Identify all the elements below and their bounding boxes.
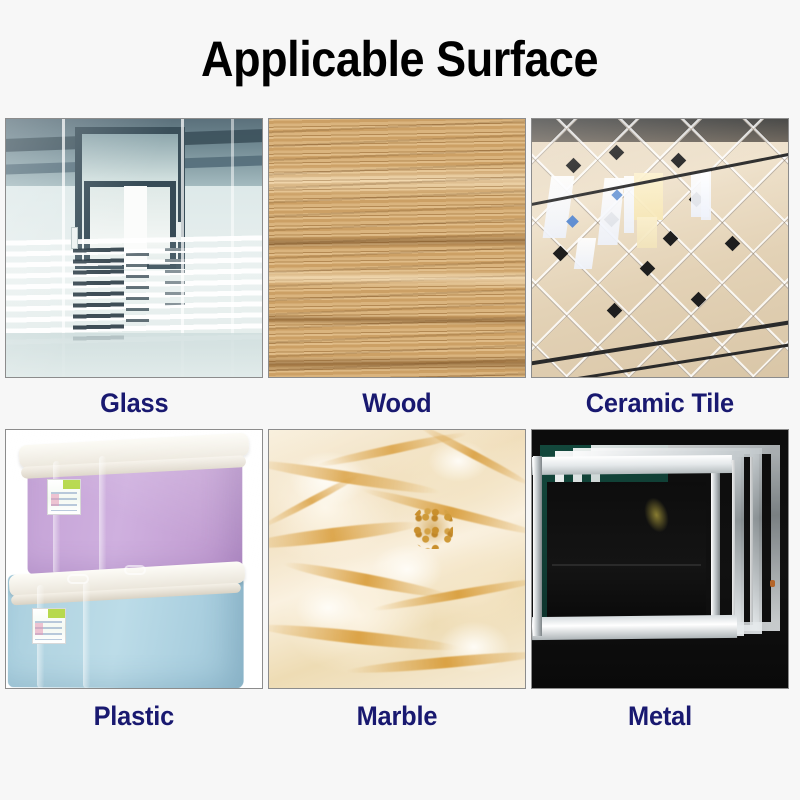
surface-label-marble: Marble (357, 689, 438, 742)
surface-label-wood: Wood (362, 378, 431, 429)
surface-item-wood[interactable]: Wood (268, 118, 526, 429)
plastic-storage-bins-photo (6, 430, 262, 688)
wood-thumbnail[interactable] (268, 118, 526, 378)
page-title: Applicable Surface (201, 34, 598, 84)
surface-grid-row: Plastic (5, 429, 795, 742)
surface-label-glass: Glass (100, 378, 168, 429)
surface-item-marble[interactable]: Marble (268, 429, 526, 742)
surface-label-plastic: Plastic (94, 689, 175, 742)
ceramic-tile-thumbnail[interactable] (531, 118, 789, 378)
glass-partition-photo (6, 119, 262, 377)
surface-item-plastic[interactable]: Plastic (5, 429, 263, 742)
surface-grid-row: Glass Wood (5, 118, 795, 429)
plastic-thumbnail[interactable] (5, 429, 263, 689)
surface-label-ceramic-tile: Ceramic Tile (586, 378, 734, 429)
page-title-bar: Applicable Surface (0, 0, 800, 108)
marble-slab-photo (269, 430, 525, 688)
metal-frames-photo (532, 430, 788, 688)
marble-thumbnail[interactable] (268, 429, 526, 689)
glass-thumbnail[interactable] (5, 118, 263, 378)
surface-label-metal: Metal (628, 689, 692, 742)
surface-item-glass[interactable]: Glass (5, 118, 263, 429)
applicable-surface-page: Applicable Surface (0, 0, 800, 800)
surface-item-metal[interactable]: Metal (531, 429, 789, 742)
metal-thumbnail[interactable] (531, 429, 789, 689)
ceramic-tile-floor-photo (532, 119, 788, 377)
surface-item-ceramic-tile[interactable]: Ceramic Tile (531, 118, 789, 429)
surface-grid: Glass Wood (5, 118, 795, 742)
wood-grain-photo (269, 119, 525, 377)
